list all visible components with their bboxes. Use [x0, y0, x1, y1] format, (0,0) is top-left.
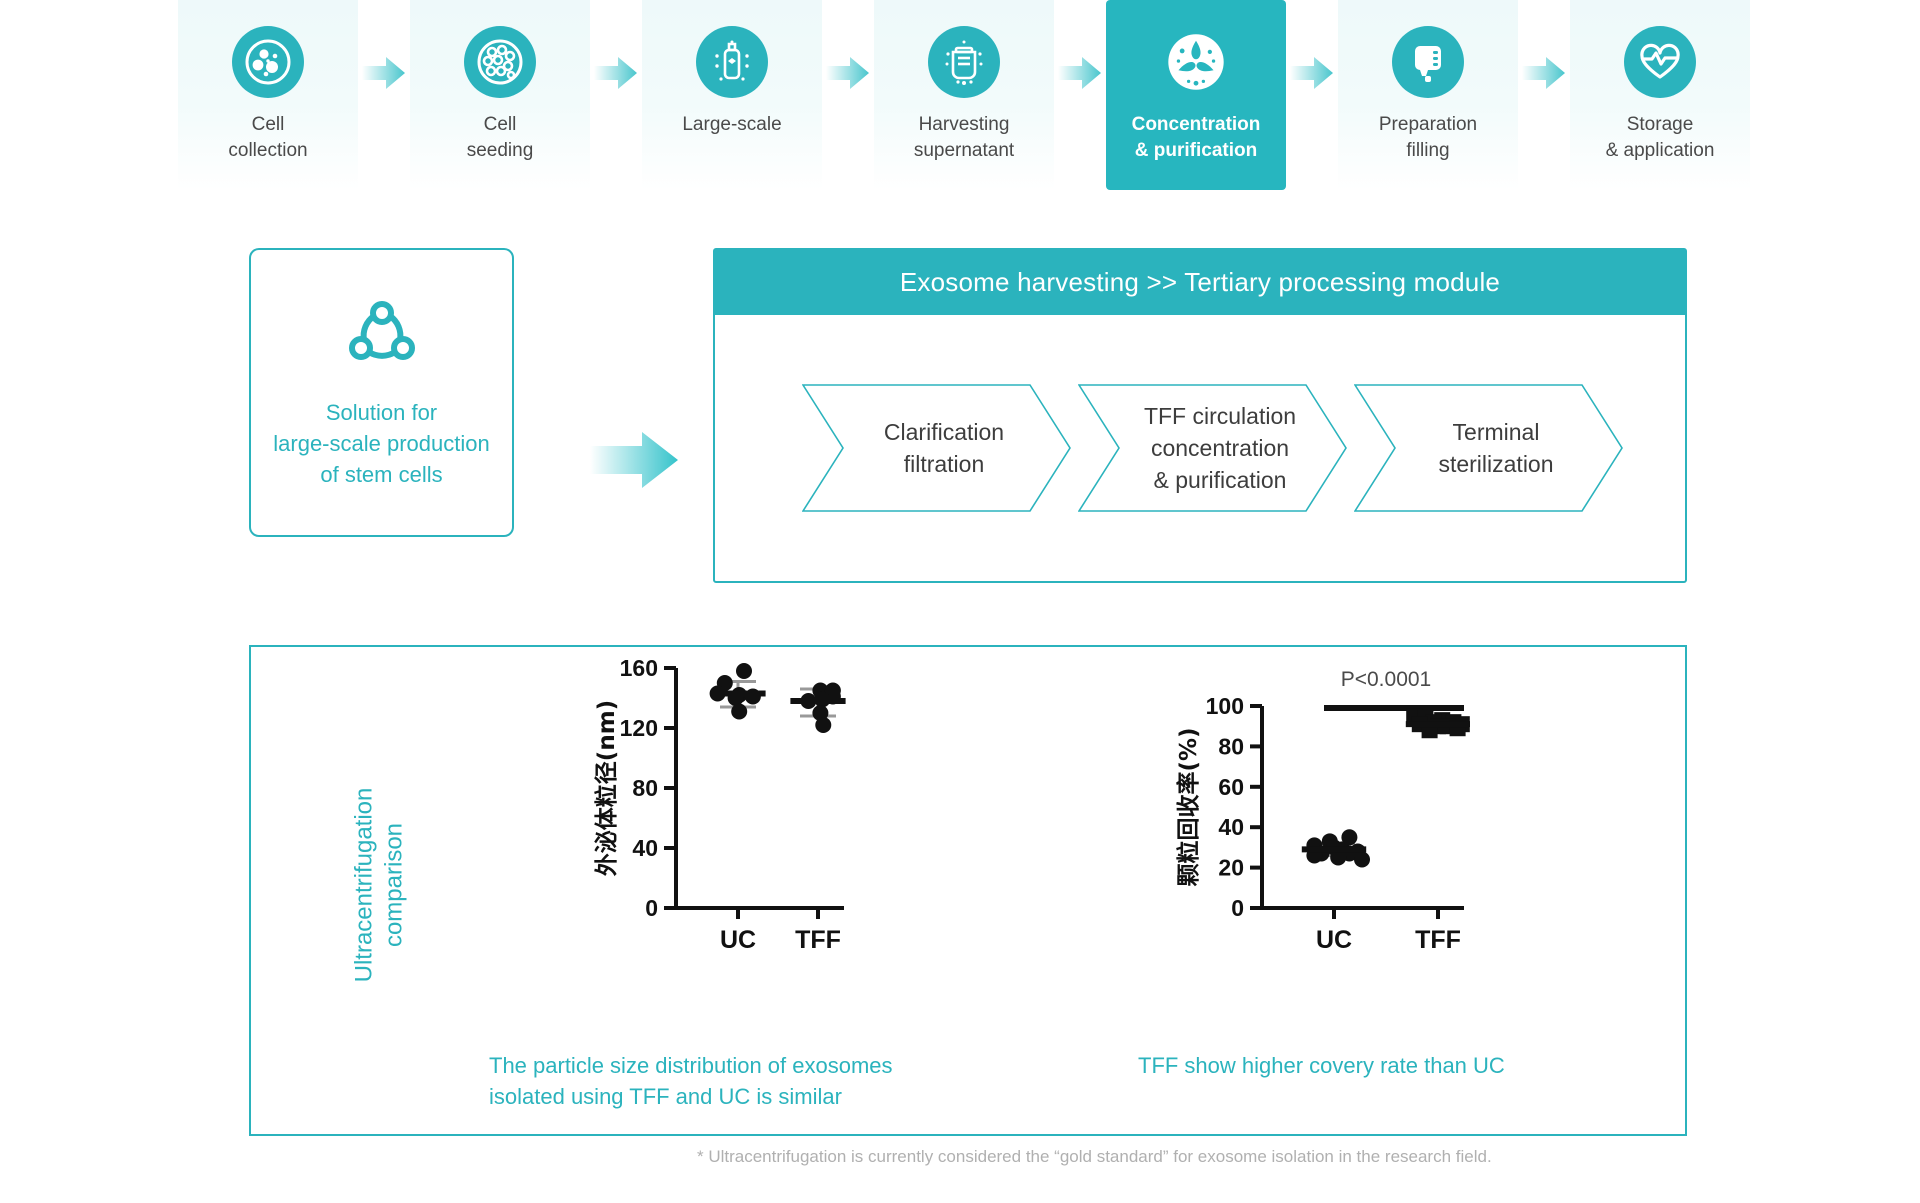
svg-text:0: 0 [1231, 895, 1244, 921]
right-arrow-icon [822, 0, 874, 190]
pipeline-step-2[interactable]: Cell seeding [410, 0, 590, 190]
solution-text: Solution for large-scale production of s… [273, 397, 489, 490]
svg-text:160: 160 [620, 660, 658, 681]
pipeline-step-3[interactable]: Large-scale [642, 0, 822, 190]
footnote: * Ultracentrifugation is currently consi… [697, 1147, 1492, 1167]
module-stage-1[interactable]: Clarification filtration [802, 384, 1072, 512]
pipeline-step-label: Cell collection [228, 112, 307, 164]
pipeline-step-7[interactable]: Storage & application [1570, 0, 1750, 190]
process-pipeline: Cell collection Cell seeding Large-scale… [178, 0, 1766, 190]
svg-text:80: 80 [1218, 733, 1244, 759]
module-title: Exosome harvesting >> Tertiary processin… [900, 267, 1500, 298]
svg-text:100: 100 [1206, 693, 1244, 719]
right-arrow-icon [1054, 0, 1106, 190]
right-arrow-icon [590, 0, 642, 190]
pipeline-step-label: Large-scale [682, 112, 781, 138]
comparison-vertical-label-text: Ultracentrifugationcomparison [349, 788, 409, 983]
svg-text:TFF: TFF [1415, 926, 1461, 954]
heart-pulse-icon [1624, 26, 1696, 98]
svg-text:UC: UC [1316, 926, 1352, 954]
harvesting-vessel-icon [928, 26, 1000, 98]
svg-text:20: 20 [1218, 855, 1244, 881]
cell-cluster-icon [464, 26, 536, 98]
svg-text:P<0.0001: P<0.0001 [1341, 668, 1432, 691]
svg-text:TFF: TFF [795, 926, 841, 954]
right-arrow-icon [358, 0, 410, 190]
svg-text:40: 40 [1218, 814, 1244, 840]
caption-left: The particle size distribution of exosom… [489, 1050, 1009, 1112]
pipeline-step-label: Harvesting supernatant [914, 112, 1014, 164]
right-arrow-icon [590, 430, 680, 495]
svg-text:UC: UC [720, 926, 756, 954]
right-arrow-icon [1286, 0, 1338, 190]
svg-text:0: 0 [645, 895, 658, 921]
svg-text:颗粒回收率(%): 颗粒回收率(%) [1175, 727, 1202, 886]
caption-right: TFF show higher covery rate than UC [1138, 1050, 1658, 1081]
three-node-cycle-icon [344, 296, 420, 377]
processing-module-card: Exosome harvesting >> Tertiary processin… [713, 248, 1687, 583]
svg-text:80: 80 [632, 775, 658, 801]
petri-dish-icon [232, 26, 304, 98]
svg-text:40: 40 [632, 835, 658, 861]
pipeline-step-6[interactable]: Preparation filling [1338, 0, 1518, 190]
comparison-vertical-line-1: Ultracentrifugation [349, 788, 379, 983]
comparison-vertical-label: Ultracentrifugationcomparison [349, 715, 409, 1055]
svg-text:60: 60 [1218, 774, 1244, 800]
module-stage-label: Terminal sterilization [1424, 416, 1553, 480]
pipeline-step-5[interactable]: Concentration & purification [1106, 0, 1286, 190]
pipeline-step-label: Cell seeding [467, 112, 534, 164]
module-header: Exosome harvesting >> Tertiary processin… [715, 250, 1685, 315]
particle-size-plot: 04080120160UCTFF外泌体粒径(nm) [590, 660, 850, 965]
recovery-rate-plot: P<0.0001020406080100UCTFF颗粒回收率(%) [1170, 660, 1470, 965]
filtration-flower-icon [1160, 26, 1232, 98]
filling-bag-icon [1392, 26, 1464, 98]
pipeline-step-label: Concentration & purification [1132, 112, 1261, 164]
pipeline-step-label: Storage & application [1606, 112, 1715, 164]
module-stage-label: Clarification filtration [870, 416, 1004, 480]
pipeline-step-4[interactable]: Harvesting supernatant [874, 0, 1054, 190]
svg-text:外泌体粒径(nm): 外泌体粒径(nm) [593, 700, 620, 876]
module-stages: Clarification filtration TFF circulation… [715, 315, 1685, 581]
module-stage-3[interactable]: Terminal sterilization [1354, 384, 1624, 512]
right-arrow-icon [1518, 0, 1570, 190]
bioreactor-bottle-icon [696, 26, 768, 98]
pipeline-step-1[interactable]: Cell collection [178, 0, 358, 190]
solution-card[interactable]: Solution for large-scale production of s… [249, 248, 514, 537]
svg-text:120: 120 [620, 715, 658, 741]
module-stage-2[interactable]: TFF circulation concentration & purifica… [1078, 384, 1348, 512]
module-stage-label: TFF circulation concentration & purifica… [1130, 400, 1296, 496]
comparison-vertical-line-2: comparison [379, 788, 409, 983]
pipeline-step-label: Preparation filling [1379, 112, 1477, 164]
